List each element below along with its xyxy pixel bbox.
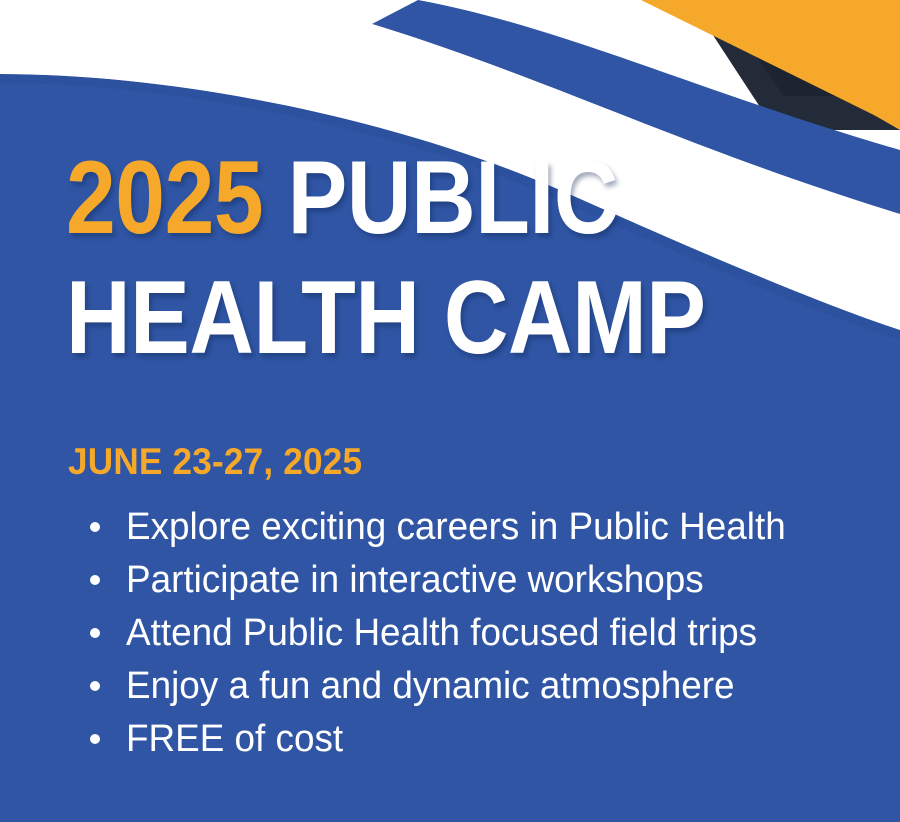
bullet-dot-icon [90, 681, 100, 691]
feature-bullet-list: Explore exciting careers in Public Healt… [90, 508, 890, 772]
bullet-dot-icon [90, 628, 100, 638]
list-item-label: Enjoy a fun and dynamic atmosphere [126, 667, 735, 707]
headline-public: PUBLIC [288, 140, 618, 256]
page-title: 2025 PUBLIC HEALTH CAMP [66, 148, 856, 370]
event-dateline: JUNE 23-27, 2025 [68, 441, 362, 483]
headline-line-1: 2025 PUBLIC [66, 148, 745, 250]
list-item: Participate in interactive workshops [90, 561, 890, 601]
poster-canvas: 2025 PUBLIC HEALTH CAMP JUNE 23-27, 2025… [0, 0, 900, 822]
list-item: Enjoy a fun and dynamic atmosphere [90, 667, 890, 707]
headline-year: 2025 [66, 140, 263, 256]
headline-word-public [263, 140, 287, 256]
list-item: FREE of cost [90, 720, 890, 760]
list-item-label: Explore exciting careers in Public Healt… [126, 508, 786, 548]
list-item-label: Participate in interactive workshops [126, 561, 704, 601]
poster-content: 2025 PUBLIC HEALTH CAMP JUNE 23-27, 2025… [0, 0, 900, 822]
list-item: Explore exciting careers in Public Healt… [90, 508, 890, 548]
list-item: Attend Public Health focused field trips [90, 614, 890, 654]
headline-line-2: HEALTH CAMP [66, 268, 745, 370]
bullet-dot-icon [90, 575, 100, 585]
list-item-label: Attend Public Health focused field trips [126, 614, 757, 654]
list-item-label: FREE of cost [126, 720, 343, 760]
bullet-dot-icon [90, 734, 100, 744]
bullet-dot-icon [90, 522, 100, 532]
